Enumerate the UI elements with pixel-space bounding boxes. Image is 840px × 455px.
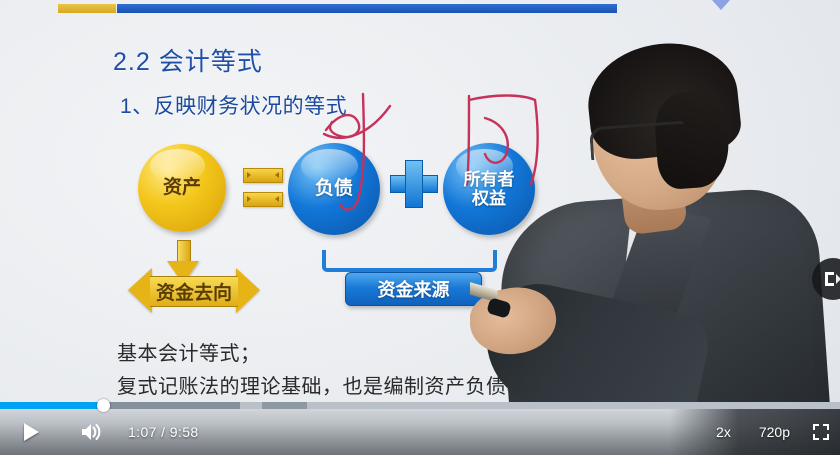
glasses-icon [589,121,686,161]
slide-note-line-1: 基本会计等式； [117,337,261,366]
flow-right-label-box: 资金来源 [345,272,482,306]
slide-subtitle: 1、反映财务状况的等式 [120,90,347,120]
collapse-to-corner-icon[interactable] [812,258,840,300]
play-icon[interactable] [8,409,54,455]
flow-right-label: 资金来源 [378,276,450,302]
slide-rule-blue [117,4,617,13]
volume-on-icon[interactable] [68,409,114,455]
flow-left-arrow: 资金去向 [128,268,260,313]
owners-equity-line1: 所有者 [464,170,515,189]
video-player[interactable]: 2.2 会计等式 1、反映财务状况的等式 资产 负债 所有者 权益 [0,0,840,455]
playback-speed-button[interactable]: 2x [702,409,745,455]
slide-note-line-2: 复式记账法的理论基础，也是编制资产负债表的依据。 [117,370,609,399]
time-display: 1:07 / 9:58 [128,409,199,455]
slide-title: 2.2 会计等式 [113,42,263,78]
quality-button[interactable]: 720p [745,409,804,455]
equation-term-liabilities: 负债 [288,143,380,235]
video-stage[interactable]: 2.2 会计等式 1、反映财务状况的等式 资产 负债 所有者 权益 [0,0,840,455]
flow-left-label: 资金去向 [156,278,232,305]
player-control-bar[interactable]: 1:07 / 9:58 2x 720p [0,409,840,455]
equation-term-assets: 资产 [138,144,226,232]
assets-label: 资产 [163,177,201,198]
equation-term-owners-equity: 所有者 权益 [443,143,535,235]
progress-played [0,402,103,409]
slide-rule-yellow [58,4,116,13]
progress-buffer-segment [262,402,307,409]
plus-sign-icon [390,160,436,206]
fullscreen-icon[interactable] [804,409,838,455]
owners-equity-label: 所有者 权益 [464,170,515,208]
progress-bar[interactable] [0,402,840,409]
equals-sign-icon [243,168,283,216]
brace-icon [322,250,497,272]
chevron-down-icon [712,0,730,10]
liabilities-label: 负债 [315,178,353,199]
owners-equity-line2: 权益 [472,189,506,208]
